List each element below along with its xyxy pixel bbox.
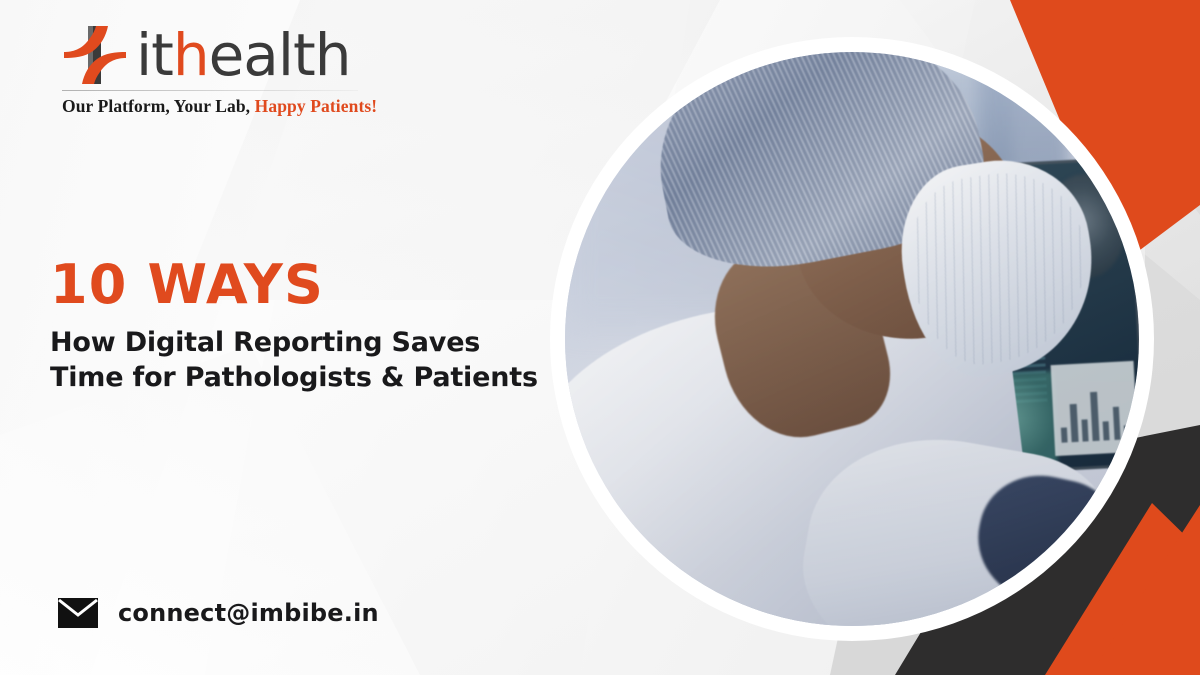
brand-tagline: Our Platform, Your Lab, Happy Patients! [62,96,377,117]
headline-block: 10 WAYS How Digital Reporting Saves Time… [50,258,538,395]
contact-block[interactable]: connect@imbibe.in [58,598,379,628]
logo-divider [62,90,358,91]
headline-line-2: Time for Pathologists & Patients [50,361,538,396]
wordmark-part-3: ealth [209,21,351,89]
medical-cross-icon [62,24,128,86]
lab-scene [565,52,1139,626]
hero-photo [565,52,1139,626]
envelope-icon [58,598,98,628]
monitor-chart-panel [1050,361,1138,456]
tagline-accent: Happy Patients! [255,96,378,116]
headline-line-1: How Digital Reporting Saves [50,326,538,361]
headline-subtitle: How Digital Reporting Saves Time for Pat… [50,326,538,395]
monitor-chart-bars [1058,385,1131,443]
headline-eyebrow: 10 WAYS [50,258,538,312]
promo-banner: ithealth Our Platform, Your Lab, Happy P… [0,0,1200,675]
brand-wordmark: ithealth [136,26,350,84]
wordmark-part-1: it [136,21,173,89]
tagline-main: Our Platform, Your Lab, [62,96,250,116]
brand-logo: ithealth Our Platform, Your Lab, Happy P… [62,24,377,117]
contact-email[interactable]: connect@imbibe.in [118,599,379,627]
wordmark-part-2: h [173,21,209,89]
